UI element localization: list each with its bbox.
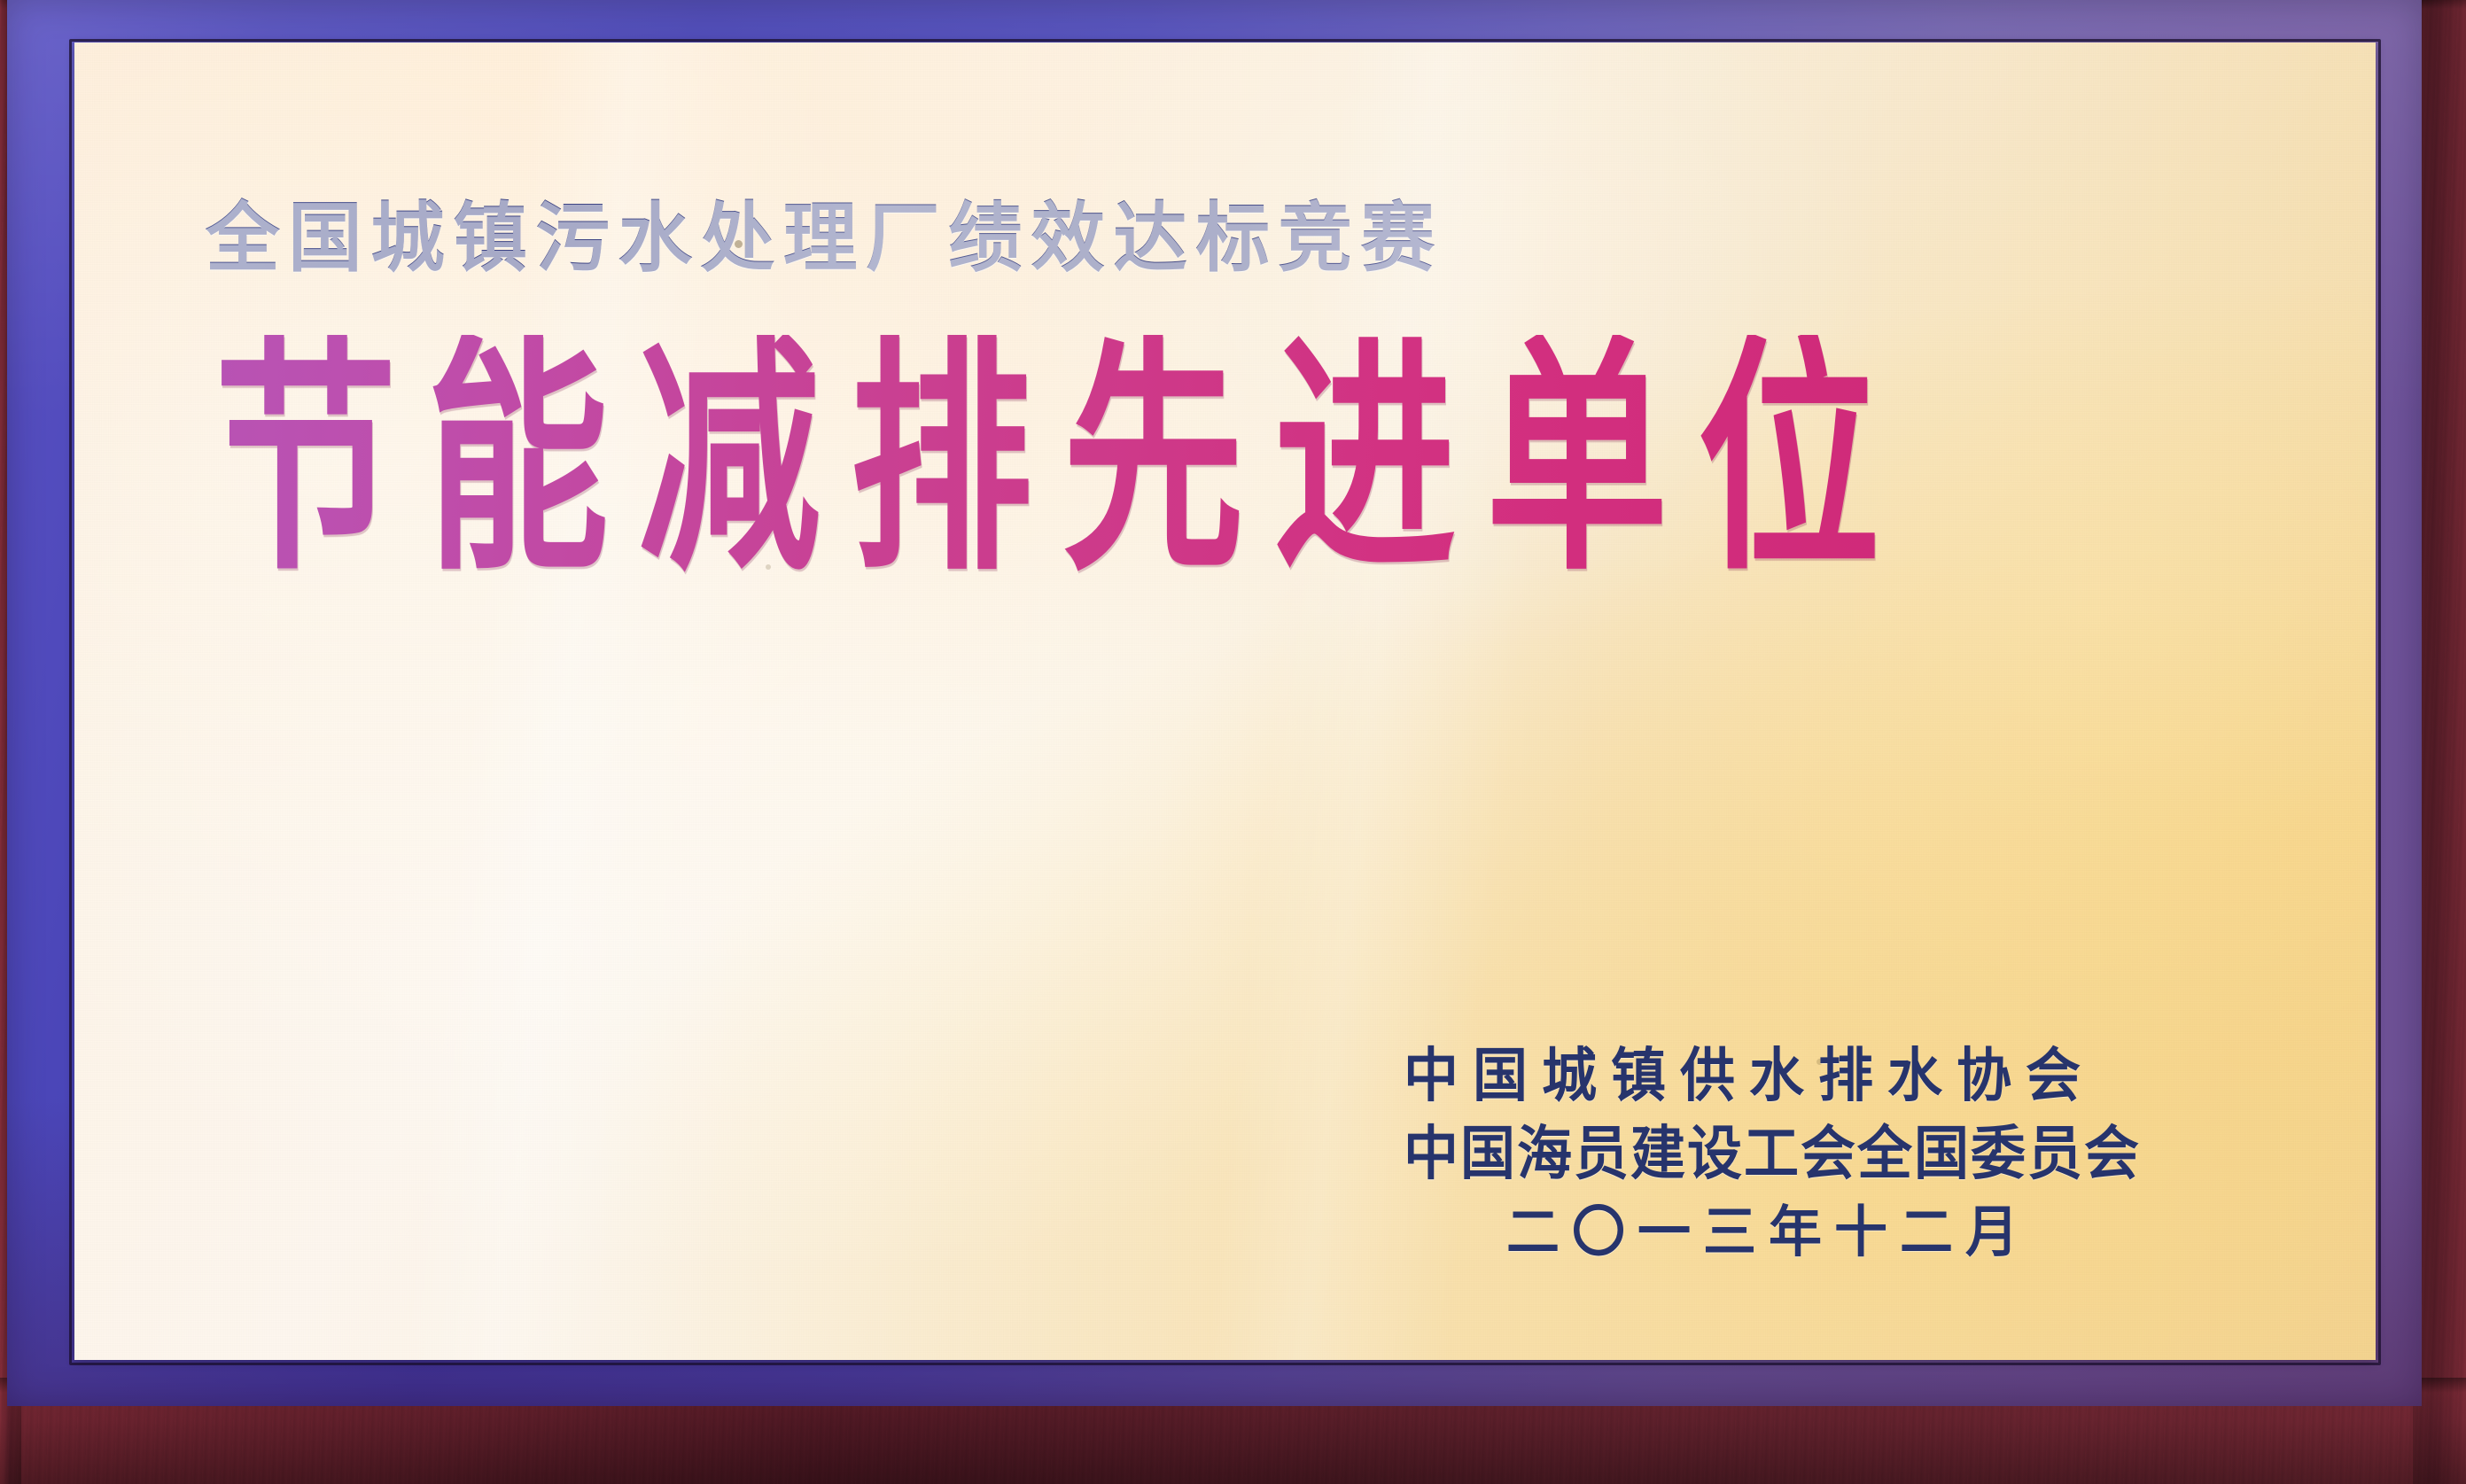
- competition-title: 全国城镇污水处理厂绩效达标竞赛: [206, 175, 1443, 286]
- plaque-face: 全国城镇污水处理厂绩效达标竞赛 节能减排先进单位 中国城镇供水排水协会 中国海员…: [74, 43, 2376, 1360]
- award-title: 节能减排先进单位: [214, 335, 1910, 584]
- issuing-organization-primary: 中国城镇供水排水协会: [1404, 1028, 2095, 1112]
- issuing-organization-secondary: 中国海员建设工会全国委员会: [1404, 1106, 2141, 1190]
- issue-date: 二〇一三年十二月: [1506, 1187, 2031, 1267]
- award-plaque-photo: 全国城镇污水处理厂绩效达标竞赛 节能减排先进单位 中国城镇供水排水协会 中国海员…: [0, 0, 2466, 1484]
